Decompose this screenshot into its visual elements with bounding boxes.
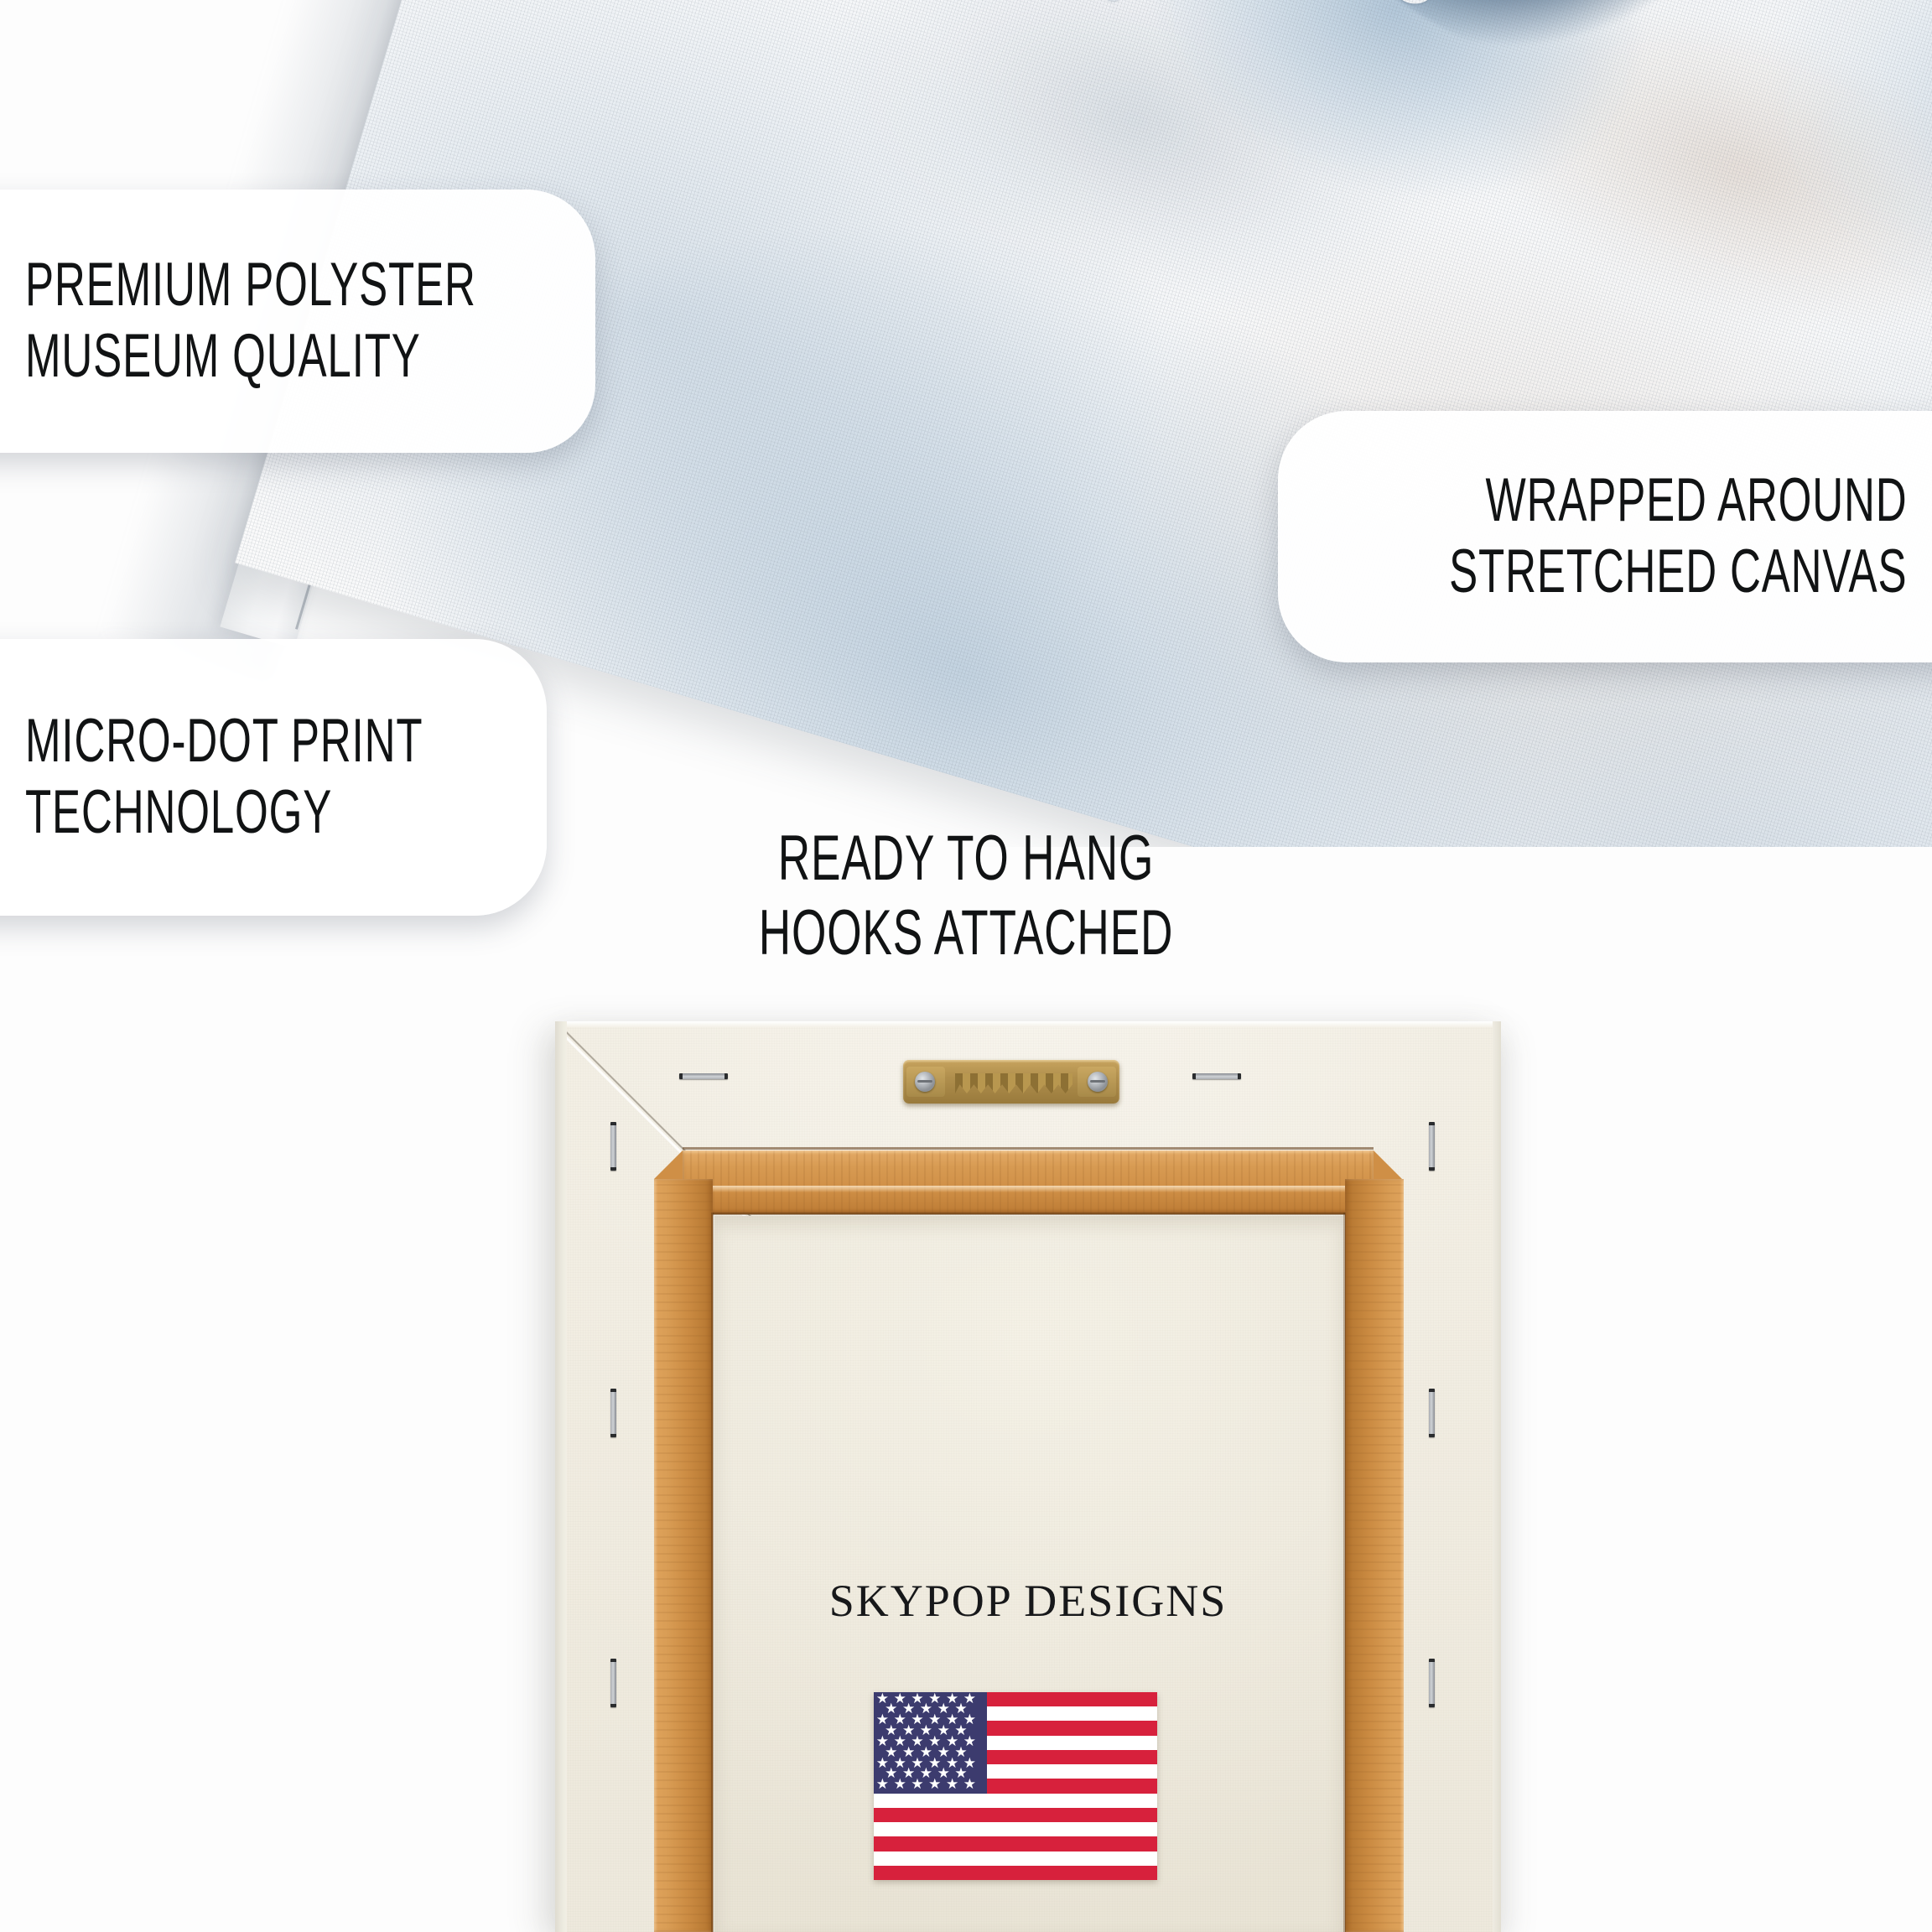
staple — [1429, 1659, 1435, 1707]
wood-stretcher-bar-left — [654, 1179, 713, 1932]
flag-canton: ★★★★★★★★★★★★★★★★★★★★★★★★★★★★★★★★★★★★★★★★… — [874, 1692, 987, 1794]
wood-mitre-corner-top-right — [1374, 1150, 1402, 1179]
staple — [610, 1122, 616, 1171]
flag-star: ★ — [945, 1777, 959, 1791]
canvas-back-view: SKYPOP DESIGNS ★★★★★★★★★★★★★★★★★★★★★★★★★… — [555, 1021, 1501, 1932]
hanger-screw-right — [1088, 1072, 1108, 1092]
wood-mitre-corner-top-left — [654, 1150, 683, 1179]
frame-seam-inner-right — [1343, 1213, 1346, 1932]
staple — [610, 1659, 616, 1707]
staple — [1429, 1122, 1435, 1171]
wood-bevel-highlight — [689, 1186, 1367, 1192]
flag-stripe — [874, 1794, 1157, 1808]
canvas-right-edge — [1493, 1021, 1501, 1932]
feature-pill-wrapped-around: WRAPPED AROUND STRETCHED CANVAS — [1278, 411, 1932, 662]
heading-line-2: HOOKS ATTACHED — [290, 896, 1643, 971]
feature-pill-line-2: MUSEUM QUALITY — [25, 321, 424, 392]
staple — [1429, 1389, 1435, 1437]
ready-to-hang-heading: READY TO HANG HOOKS ATTACHED — [0, 822, 1932, 971]
brand-name: SKYPOP DESIGNS — [555, 1575, 1501, 1627]
frame-seam-inner-top — [713, 1213, 1345, 1215]
flag-stripe — [874, 1866, 1157, 1880]
flag-star: ★ — [963, 1777, 977, 1791]
frame-seam-inner-left — [711, 1213, 714, 1932]
feature-pill-line-1: WRAPPED AROUND — [1485, 465, 1907, 537]
flag-star: ★ — [893, 1777, 907, 1791]
flag-stripe — [874, 1822, 1157, 1836]
frame-seam-top — [683, 1147, 1374, 1150]
feature-pill-line-1: PREMIUM POLYSTER — [25, 250, 424, 321]
flag-stripe — [874, 1808, 1157, 1822]
staple — [610, 1389, 616, 1437]
flag-stripe — [874, 1836, 1157, 1851]
flag-stripe — [874, 1851, 1157, 1866]
feature-pill-line-2: STRETCHED CANVAS — [1449, 537, 1907, 608]
canvas-left-edge — [555, 1021, 567, 1932]
hanger-screw-left — [915, 1072, 935, 1092]
staple — [1192, 1073, 1241, 1079]
sawtooth-hanger — [903, 1060, 1119, 1104]
wood-stretcher-bar-right — [1345, 1179, 1404, 1932]
wood-stretcher-bar-top — [683, 1150, 1374, 1214]
heading-line-1: READY TO HANG — [290, 822, 1643, 896]
hanger-teeth — [955, 1073, 1072, 1093]
flag-star: ★ — [910, 1777, 924, 1791]
flag-star: ★ — [875, 1777, 890, 1791]
feature-pill-line-1: MICRO-DOT PRINT — [25, 706, 390, 777]
feature-pill-premium-polyster: PREMIUM POLYSTER MUSEUM QUALITY — [0, 190, 595, 453]
staple — [679, 1073, 728, 1079]
flag-star: ★ — [927, 1777, 942, 1791]
infographic-canvas: PREMIUM POLYSTER MUSEUM QUALITY MICRO-DO… — [0, 0, 1932, 1932]
canvas-top-edge — [555, 1021, 1501, 1027]
united-states-flag-icon: ★★★★★★★★★★★★★★★★★★★★★★★★★★★★★★★★★★★★★★★★… — [874, 1692, 1157, 1880]
